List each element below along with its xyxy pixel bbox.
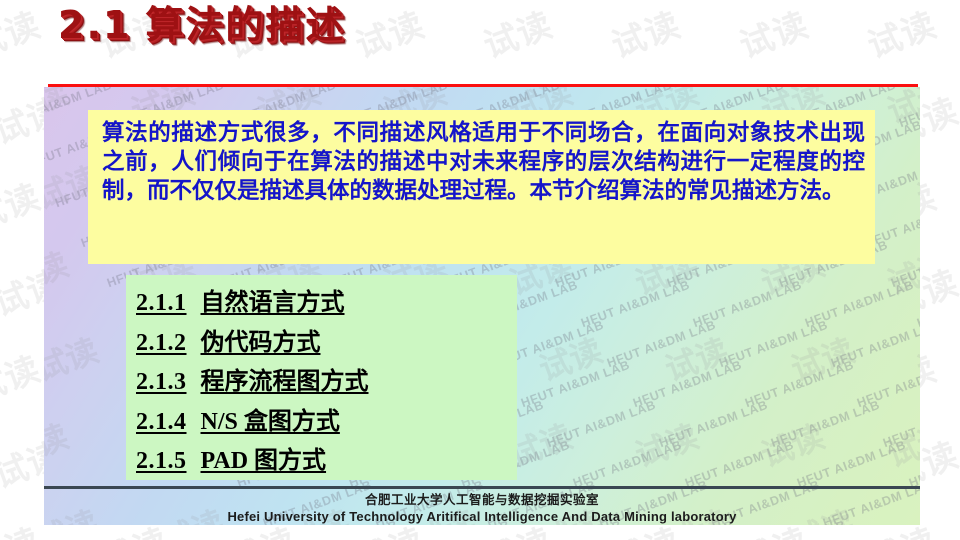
lab-watermark: HFUT AI&DM LAB [829, 318, 920, 370]
list-item-number: 2.1.1 [136, 290, 187, 316]
section-list-box: 2.1.1自然语言方式 2.1.2伪代码方式 2.1.3程序流程图方式 2.1.… [126, 275, 517, 480]
trial-watermark: 试读 [658, 325, 734, 390]
trial-watermark: 试读 [44, 325, 104, 390]
lab-watermark: HFUT AI&DM LAB [897, 87, 920, 130]
lab-watermark: HFUT AI&DM LAB [545, 398, 658, 450]
list-item[interactable]: 2.1.3程序流程图方式 [136, 362, 517, 402]
list-item[interactable]: 2.1.1自然语言方式 [136, 283, 517, 323]
trial-watermark: 试读 [532, 325, 608, 390]
lab-watermark: HFUT AI&DM LAB [691, 278, 804, 330]
lab-watermark: HFUT AI&DM LAB [743, 358, 856, 410]
trial-watermark: 试读 [44, 411, 74, 476]
intro-paragraph: 算法的描述方式很多，不同描述风格适用于不同场合，在面向对象技术出现之前，人们倾向… [102, 119, 865, 206]
list-item-label: 伪代码方式 [201, 328, 321, 356]
trial-watermark: 试读 [44, 239, 74, 304]
lab-watermark: HFUT AI&DM LAB [803, 278, 916, 330]
footer-organization-en: Hefei University of Technology Aritifica… [44, 508, 920, 525]
list-item-number: 2.1.3 [136, 369, 187, 395]
lab-watermark: HFUT AI&DM LAB [199, 87, 312, 90]
intro-text-box: 算法的描述方式很多，不同描述风格适用于不同场合，在面向对象技术出现之前，人们倾向… [88, 110, 875, 264]
lab-watermark: HFUT AI&DM LAB [717, 318, 830, 370]
trial-watermark: 试读 [0, 342, 46, 412]
title-text: 算法的描述 [145, 3, 345, 47]
lab-watermark: HFUT AI&DM LAB [87, 87, 200, 90]
lab-watermark: HFUT AI&DM LAB [519, 358, 632, 410]
presentation-slide: 试读试读试读试读试读试读试读试读试读试读试读试读试读试读试读试读试读试读试读试读… [0, 0, 960, 540]
trial-watermark: 试读 [880, 87, 920, 133]
trial-watermark: 试读 [628, 411, 704, 476]
list-item-label: PAD 图方式 [201, 448, 327, 474]
lab-watermark: HFUT AI&DM LAB [683, 438, 796, 490]
title-number: 2.1 [58, 3, 131, 47]
list-item[interactable]: 2.1.5PAD 图方式 [136, 441, 517, 481]
trial-watermark: 试读 [910, 153, 920, 218]
title-divider-rule [48, 84, 918, 87]
footer-organization-cn: 合肥工业大学人工智能与数据挖掘实验室 [44, 491, 920, 508]
trial-watermark: 试读 [0, 514, 46, 540]
lab-watermark: HFUT AI&DM LAB [657, 398, 770, 450]
lab-watermark: HFUT AI&DM LAB [571, 438, 684, 490]
trial-watermark: 试读 [910, 325, 920, 390]
lab-watermark: HFUT AI&DM LAB [871, 87, 920, 90]
lab-watermark: HFUT AI&DM LAB [759, 87, 872, 90]
lab-watermark: HFUT AI&DM LAB [605, 318, 718, 370]
page-title: 2.1算法的描述 [58, 2, 345, 48]
list-item-number: 2.1.4 [136, 409, 187, 435]
lab-watermark: HFUT AI&DM LAB [769, 398, 882, 450]
lab-watermark: HFUT AI&DM LAB [631, 358, 744, 410]
lab-watermark: HFUT AI&DM LAB [311, 87, 424, 90]
list-item-number: 2.1.2 [136, 330, 187, 356]
lab-watermark: HFUT AI&DM LAB [647, 87, 760, 90]
lab-watermark: HFUT AI&DM LAB [535, 87, 648, 90]
lab-watermark: HFUT AI&DM LAB [889, 238, 920, 290]
lab-watermark: HFUT AI&DM LAB [855, 358, 920, 410]
lab-watermark: HFUT AI&DM LAB [915, 278, 920, 330]
trial-watermark: 试读 [784, 325, 860, 390]
list-item[interactable]: 2.1.2伪代码方式 [136, 323, 517, 363]
trial-watermark: 试读 [880, 411, 920, 476]
lab-watermark: HFUT AI&DM LAB [795, 438, 908, 490]
slide-footer: 合肥工业大学人工智能与数据挖掘实验室 Hefei University of T… [44, 489, 920, 525]
list-item-number: 2.1.5 [136, 448, 187, 474]
list-item-label: 自然语言方式 [201, 288, 345, 316]
trial-watermark: 试读 [0, 170, 46, 240]
lab-watermark: HFUT AI&DM LAB [579, 278, 692, 330]
list-item[interactable]: 2.1.4N/S 盒图方式 [136, 402, 517, 442]
slide-title-block: 2.1算法的描述 [0, 0, 960, 78]
list-item-label: 程序流程图方式 [201, 367, 369, 395]
lab-watermark: HFUT AI&DM LAB [907, 438, 920, 490]
lab-watermark: HFUT AI&DM LAB [881, 398, 920, 450]
lab-watermark: HFUT AI&DM LAB [44, 87, 88, 90]
trial-watermark: 试读 [880, 239, 920, 304]
list-item-label: N/S 盒图方式 [201, 409, 340, 435]
trial-watermark: 试读 [754, 411, 830, 476]
trial-watermark: 试读 [44, 87, 74, 133]
lab-watermark: HFUT AI&DM LAB [423, 87, 536, 90]
